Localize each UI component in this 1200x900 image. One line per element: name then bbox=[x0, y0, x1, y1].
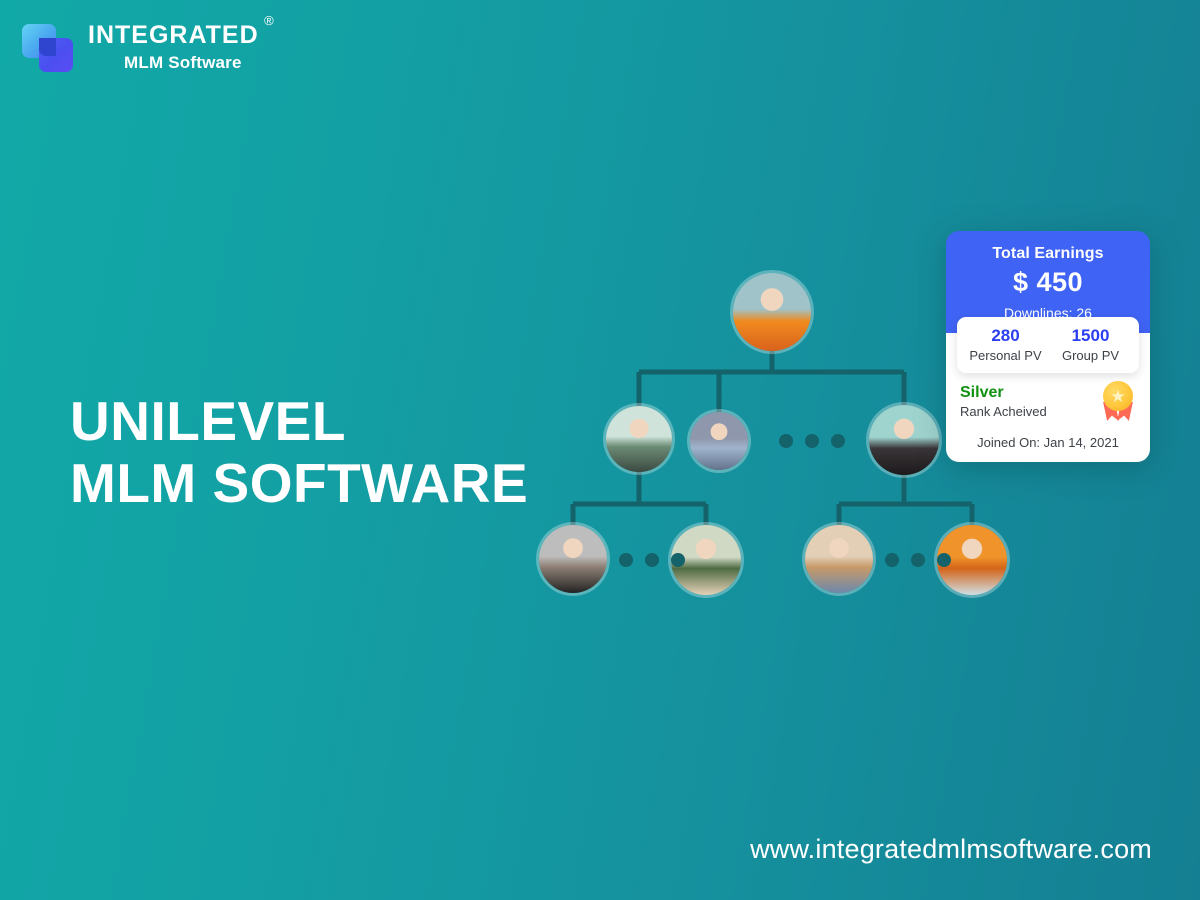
ellipsis-dot-icon bbox=[831, 434, 845, 448]
ellipsis-dot-icon bbox=[911, 553, 925, 567]
rank-row: Silver Rank Acheived ★ bbox=[946, 381, 1150, 421]
avatar-photo bbox=[690, 412, 748, 470]
ellipsis-dot-icon bbox=[937, 553, 951, 567]
group-pv-label: Group PV bbox=[1048, 348, 1133, 363]
personal-pv-label: Personal PV bbox=[963, 348, 1048, 363]
award-medal-icon: ★ bbox=[1100, 381, 1136, 421]
avatar-photo bbox=[805, 525, 873, 593]
ellipsis-dot-icon bbox=[619, 553, 633, 567]
level2-member-2[interactable] bbox=[690, 412, 748, 470]
rank-subtitle: Rank Acheived bbox=[960, 404, 1047, 419]
joined-date: Joined On: Jan 14, 2021 bbox=[946, 435, 1150, 450]
ellipsis-level3-left[interactable] bbox=[619, 553, 685, 567]
ellipsis-level3-right[interactable] bbox=[885, 553, 951, 567]
member-info-card[interactable]: Total Earnings $ 450 Downlines: 26 280 P… bbox=[946, 231, 1150, 462]
level2-member-1[interactable] bbox=[606, 406, 672, 472]
root-member[interactable] bbox=[733, 273, 811, 351]
medal-star-icon: ★ bbox=[1110, 388, 1125, 405]
earnings-label: Total Earnings bbox=[956, 245, 1140, 263]
level2-member-3[interactable] bbox=[869, 405, 939, 475]
rank-text: Silver Rank Acheived bbox=[960, 384, 1047, 419]
avatar-photo bbox=[869, 405, 939, 475]
avatar-photo bbox=[606, 406, 672, 472]
level3-member-3[interactable] bbox=[805, 525, 873, 593]
group-pv-value: 1500 bbox=[1048, 326, 1133, 346]
card-body: 280 Personal PV 1500 Group PV Silver Ran… bbox=[946, 333, 1150, 462]
ellipsis-dot-icon bbox=[805, 434, 819, 448]
avatar-photo bbox=[733, 273, 811, 351]
ellipsis-dot-icon bbox=[779, 434, 793, 448]
level3-member-1[interactable] bbox=[539, 525, 607, 593]
website-url[interactable]: www.integratedmlmsoftware.com bbox=[750, 834, 1152, 865]
avatar-photo bbox=[539, 525, 607, 593]
ellipsis-dot-icon bbox=[645, 553, 659, 567]
stat-personal-pv: 280 Personal PV bbox=[963, 326, 1048, 363]
pv-stats-panel: 280 Personal PV 1500 Group PV bbox=[957, 317, 1139, 373]
hero-banner: INTEGRATED ® MLM Software UNILEVEL MLM S… bbox=[0, 0, 1200, 900]
ellipsis-dot-icon bbox=[885, 553, 899, 567]
ellipsis-level2[interactable] bbox=[779, 434, 845, 448]
stat-group-pv: 1500 Group PV bbox=[1048, 326, 1133, 363]
personal-pv-value: 280 bbox=[963, 326, 1048, 346]
ellipsis-dot-icon bbox=[671, 553, 685, 567]
medal-disc-icon: ★ bbox=[1103, 381, 1133, 411]
earnings-amount: $ 450 bbox=[956, 267, 1140, 298]
rank-name: Silver bbox=[960, 384, 1047, 402]
